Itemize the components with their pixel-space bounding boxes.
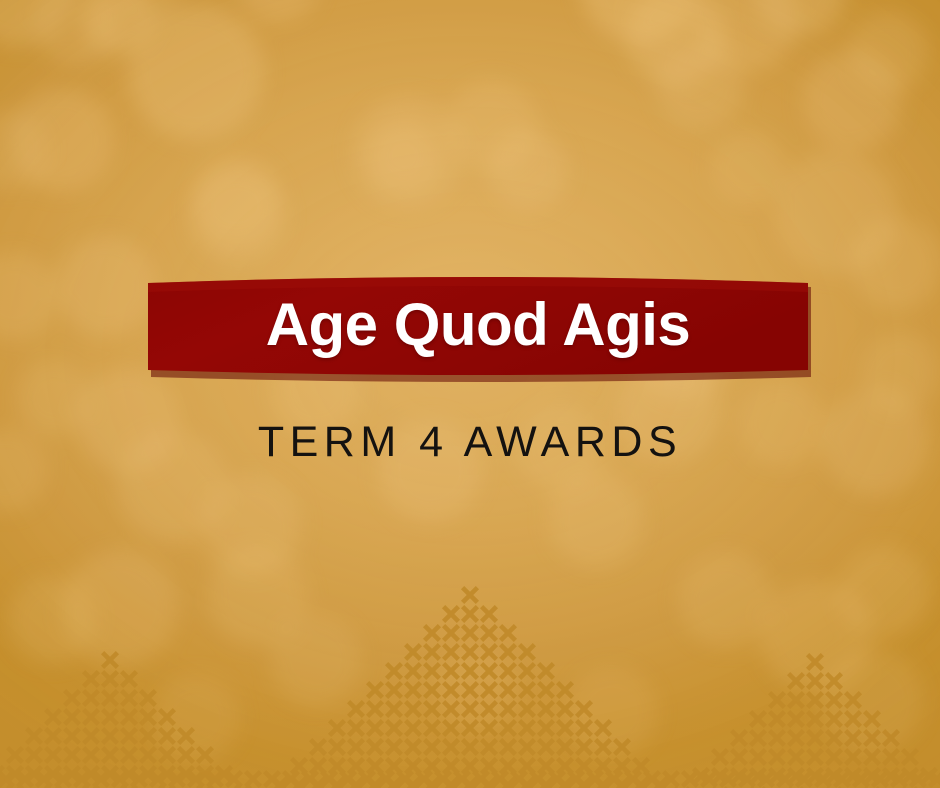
bokeh-circle <box>152 674 240 762</box>
bokeh-circle <box>656 42 744 130</box>
bokeh-circle <box>860 332 940 412</box>
subtitle-text: TERM 4 AWARDS <box>0 418 940 467</box>
banner-title-text: Age Quod Agis <box>140 270 816 382</box>
bokeh-circle <box>548 472 644 568</box>
bokeh-circle <box>566 666 658 758</box>
bokeh-circle <box>370 122 438 190</box>
bokeh-circle <box>850 218 940 310</box>
bokeh-circle <box>270 614 362 706</box>
title-banner: Age Quod Agis <box>140 270 816 382</box>
bokeh-circle <box>820 648 924 752</box>
bokeh-circle <box>0 252 58 340</box>
bokeh-circle <box>848 12 928 92</box>
bokeh-circle <box>236 0 320 22</box>
bokeh-circles <box>0 0 940 788</box>
awards-poster: Age Quod Agis TERM 4 AWARDS <box>0 0 940 788</box>
bokeh-circle <box>488 130 568 210</box>
bokeh-circle <box>128 4 264 140</box>
bokeh-circle <box>434 648 518 732</box>
bokeh-circle <box>8 576 96 664</box>
bokeh-circle <box>710 130 786 206</box>
bokeh-circle <box>838 546 930 638</box>
bokeh-circle <box>192 156 280 244</box>
